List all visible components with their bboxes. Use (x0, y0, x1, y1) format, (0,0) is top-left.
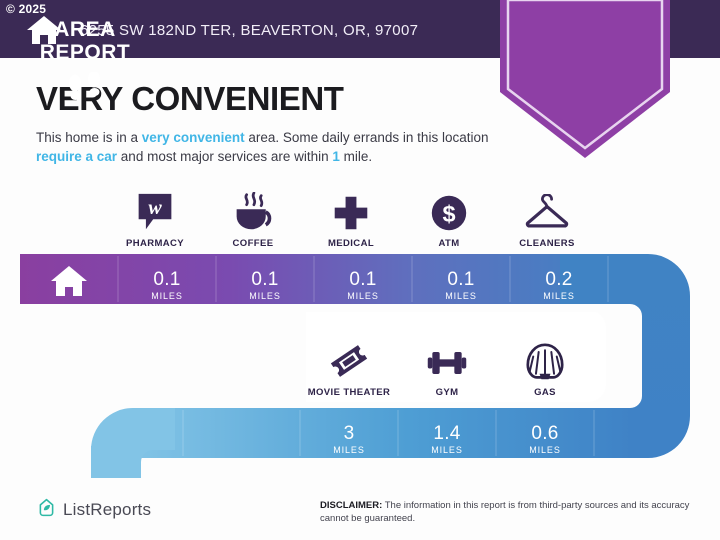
distance-unit: MILES (118, 291, 216, 301)
copyright-badge: © 2025 (6, 2, 46, 16)
category-label: MEDICAL (302, 238, 400, 249)
distance-unit: MILES (314, 291, 412, 301)
category-label: GAS (496, 387, 594, 398)
subtitle-highlight-miles: 1 (332, 149, 340, 164)
distance-value: 1.4 (398, 424, 496, 444)
distance-unit: MILES (412, 291, 510, 301)
shell-gas-icon (496, 337, 594, 381)
subtitle-highlight-car: require a car (36, 149, 117, 164)
distance-medical: 0.1 MILES (314, 270, 412, 301)
category-label: MOVIE THEATER (300, 387, 398, 398)
home-marker-icon (20, 264, 118, 303)
category-gym[interactable]: GYM (398, 337, 496, 398)
medical-cross-icon (302, 188, 400, 232)
distance-gym: 1.4 MILES (398, 424, 496, 455)
dumbbell-icon (398, 337, 496, 381)
home-icon (26, 14, 62, 46)
distance-value: 0.1 (118, 270, 216, 290)
pharmacy-icon: w (106, 188, 204, 232)
distance-unit: MILES (216, 291, 314, 301)
category-atm[interactable]: $ ATM (400, 188, 498, 249)
listreports-logo-text: ListReports (63, 500, 151, 520)
footprints-icon (63, 72, 107, 108)
category-label: COFFEE (204, 238, 302, 249)
movie-ticket-icon (300, 337, 398, 381)
category-label: ATM (400, 238, 498, 249)
category-label: PHARMACY (106, 238, 204, 249)
category-pharmacy[interactable]: w PHARMACY (106, 188, 204, 249)
category-movie-theater[interactable]: MOVIE THEATER (300, 337, 398, 398)
page-subtitle: This home is in a very convenient area. … (36, 128, 506, 166)
property-address: 6255 SW 182ND TER, BEAVERTON, OR, 97007 (80, 22, 418, 39)
clothes-hanger-icon (498, 188, 596, 232)
svg-text:w: w (148, 197, 162, 219)
area-report-banner (500, 0, 670, 164)
category-gas[interactable]: GAS (496, 337, 594, 398)
distance-atm: 0.1 MILES (412, 270, 510, 301)
distance-coffee: 0.1 MILES (216, 270, 314, 301)
distance-pharmacy: 0.1 MILES (118, 270, 216, 301)
distance-unit: MILES (510, 291, 608, 301)
dollar-circle-icon: $ (400, 188, 498, 232)
listreports-logo[interactable]: ListReports (36, 497, 151, 523)
distance-value: 0.1 (216, 270, 314, 290)
subtitle-part: area. Some daily errands in this locatio… (245, 130, 489, 145)
distance-unit: MILES (398, 445, 496, 455)
distance-unit: MILES (496, 445, 594, 455)
subtitle-part: This home is in a (36, 130, 142, 145)
category-label: GYM (398, 387, 496, 398)
distance-cleaners: 0.2 MILES (510, 270, 608, 301)
distance-value: 3 (300, 424, 398, 444)
svg-text:$: $ (442, 201, 455, 227)
category-label: CLEANERS (498, 238, 596, 249)
distance-unit: MILES (300, 445, 398, 455)
subtitle-highlight-convenient: very convenient (142, 130, 245, 145)
category-cleaners[interactable]: CLEANERS (498, 188, 596, 249)
disclaimer-text: DISCLAIMER: The information in this repo… (320, 500, 700, 525)
distance-movie-theater: 3 MILES (300, 424, 398, 455)
distance-value: 0.2 (510, 270, 608, 290)
area-report-page: © 2025 6255 SW 182ND TER, BEAVERTON, OR,… (0, 0, 720, 540)
distance-value: 0.1 (412, 270, 510, 290)
distance-value: 0.6 (496, 424, 594, 444)
subtitle-part: and most major services are within (117, 149, 332, 164)
category-coffee[interactable]: COFFEE (204, 188, 302, 249)
disclaimer-label: DISCLAIMER: (320, 500, 382, 511)
category-medical[interactable]: MEDICAL (302, 188, 400, 249)
distance-value: 0.1 (314, 270, 412, 290)
coffee-cup-icon (204, 188, 302, 232)
subtitle-part: mile. (340, 149, 372, 164)
distance-gas: 0.6 MILES (496, 424, 594, 455)
listreports-leaf-icon (36, 497, 57, 523)
